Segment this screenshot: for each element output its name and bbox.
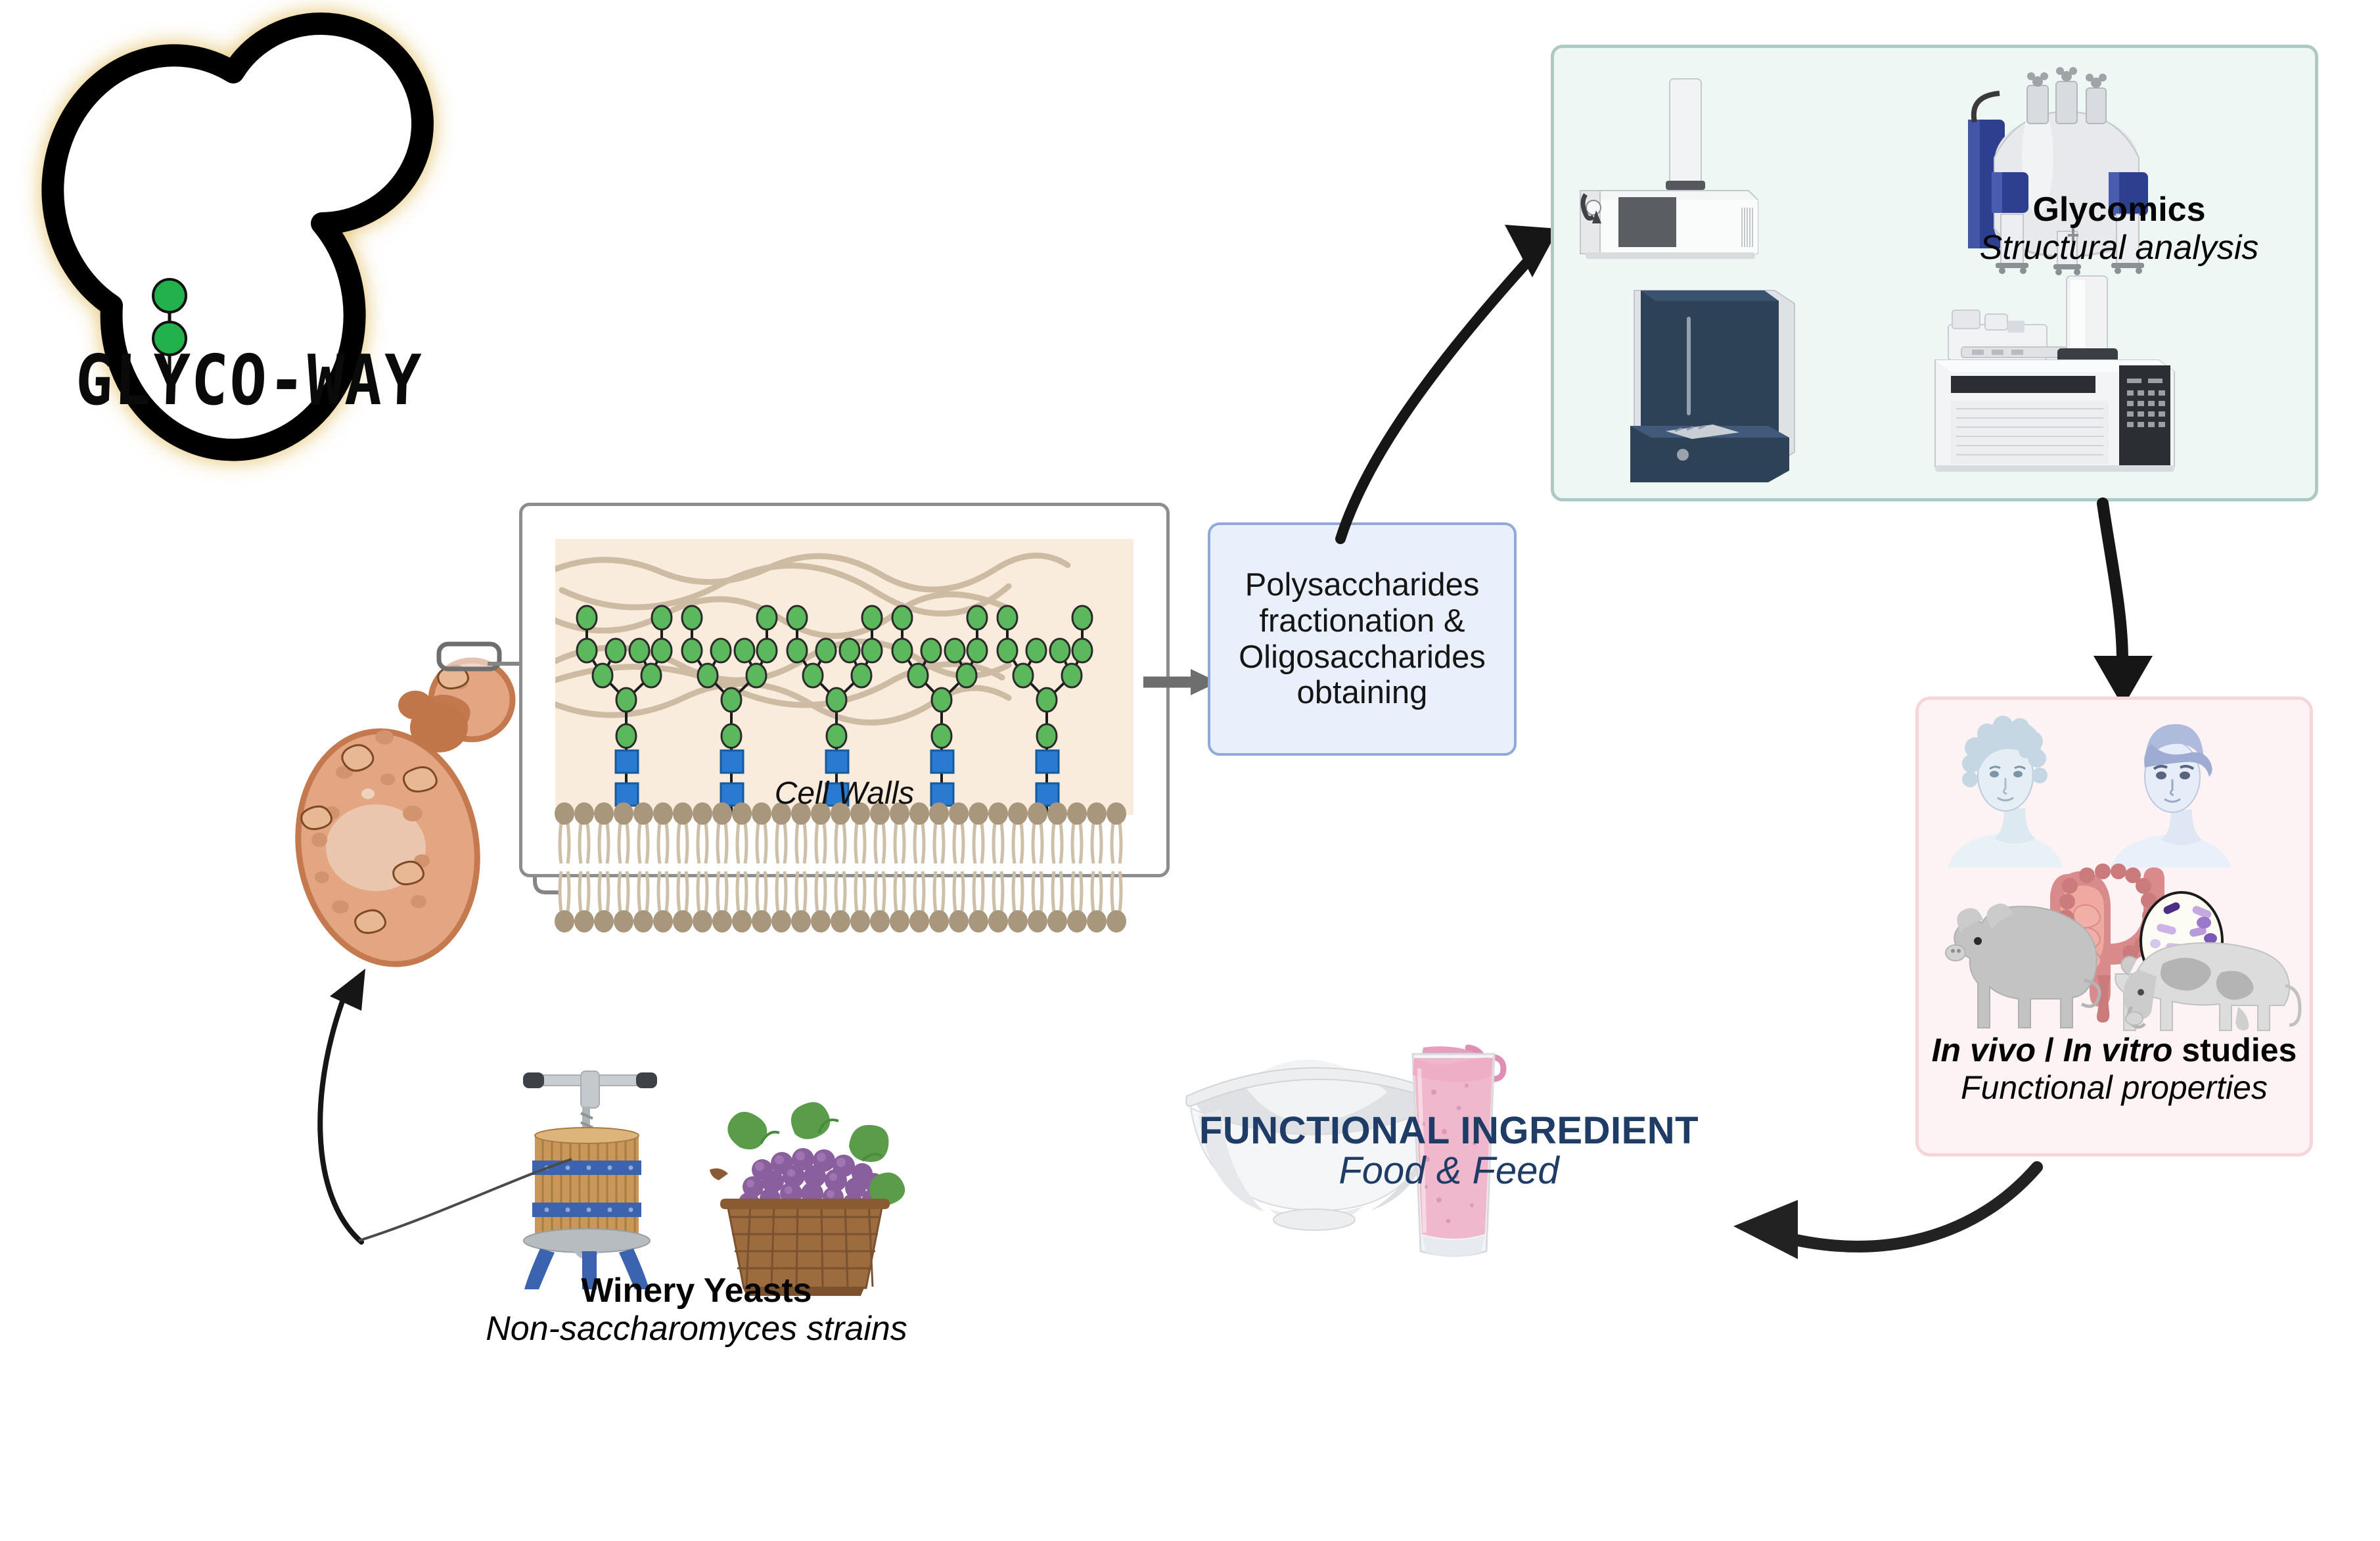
bilayer-leaflets (555, 802, 1126, 932)
winery-caption: Winery Yeasts Non-saccharomyces strains (421, 1272, 973, 1348)
in-vivo-italic-2: In vitro (2063, 1032, 2173, 1069)
in-vivo-sep: / (2036, 1032, 2063, 1069)
cell-wall-illustration (555, 539, 1133, 815)
cell-walls-label: Cell Walls (519, 775, 1170, 812)
in-vivo-subtitle: Functional properties (1915, 1069, 2313, 1107)
glycomics-title: Glycomics (1948, 191, 2290, 229)
functional-ingredient-subtitle: Food & Feed (1179, 1151, 1718, 1191)
yeast-logo-shape (13, 7, 513, 532)
in-vivo-figures (1932, 710, 2300, 1025)
grape-basket-icon (710, 1102, 905, 1296)
winery-subtitle: Non-saccharomyces strains (421, 1310, 973, 1348)
functional-ingredient-title: FUNCTIONAL INGREDIENT (1179, 1111, 1718, 1151)
woman-figure-icon (1948, 716, 2063, 867)
gc-ms-system-icon (1935, 276, 2174, 472)
in-vivo-rest: studies (2172, 1032, 2297, 1069)
process-box: Polysaccharides fractionation & Oligosac… (1208, 522, 1517, 756)
cell-wall-svg (555, 539, 1133, 815)
logo-wordmark: GLYCO-WAY (74, 340, 424, 421)
process-box-text: Polysaccharides fractionation & Oligosac… (1229, 567, 1495, 712)
man-figure-icon (2111, 724, 2231, 867)
leader-line-press-to-arrow (355, 1157, 572, 1249)
glyco-way-logo: GLYCO-WAY (13, 7, 513, 532)
in-vivo-caption: In vivo / In vitro studies Functional pr… (1915, 1032, 2313, 1107)
in-vivo-italic-1: In vivo (1932, 1032, 2036, 1069)
process-line-3: Oligosaccharides (1239, 639, 1486, 675)
glycomics-caption: Glycomics Structural analysis (1948, 191, 2290, 267)
lipid-head-groups (555, 802, 1126, 932)
process-line-4: obtaining (1297, 675, 1428, 710)
mass-spectrometer-icon (1580, 79, 1758, 259)
arrow-vivo-to-ingredient (1669, 1163, 2063, 1387)
process-line-2: fractionation & (1259, 603, 1465, 639)
in-vivo-title: In vivo / In vitro studies (1915, 1032, 2313, 1069)
winery-title: Winery Yeasts (421, 1272, 973, 1310)
functional-ingredient-caption: FUNCTIONAL INGREDIENT Food & Feed (1179, 1111, 1718, 1191)
arrow-glycomics-to-vivo (2030, 499, 2214, 716)
pig-figure-icon (1946, 904, 2099, 1028)
hplc-chromatograph-icon (1630, 290, 1795, 482)
glycomics-subtitle: Structural analysis (1948, 229, 2290, 267)
glycomics-instruments (1567, 59, 2303, 486)
lipid-bilayer (555, 810, 1133, 928)
process-line-1: Polysaccharides (1245, 567, 1480, 603)
